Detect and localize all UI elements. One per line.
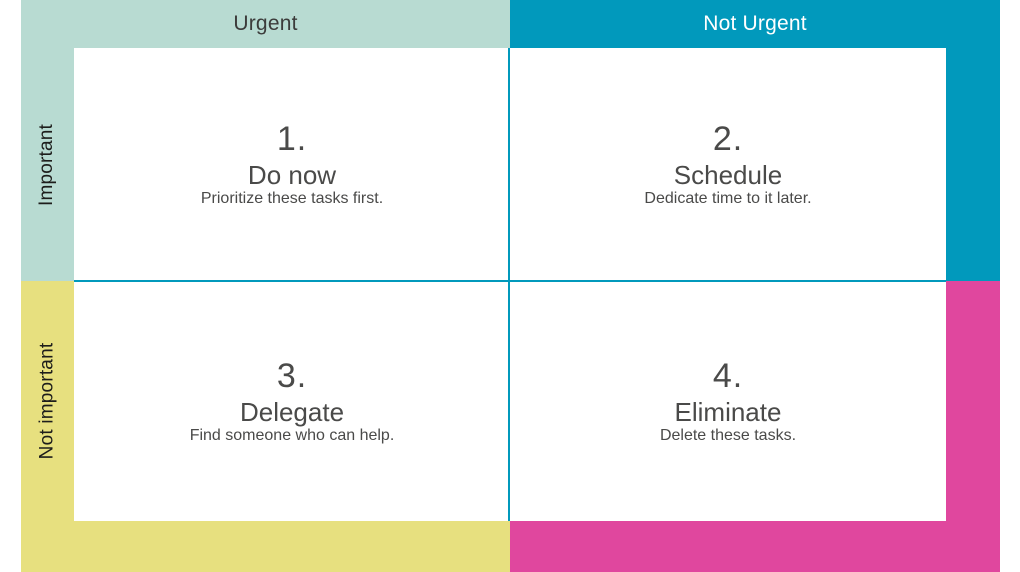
quadrant-description: Find someone who can help. bbox=[190, 427, 395, 444]
row-label-not-important: Not important bbox=[21, 281, 74, 521]
row-label-not-important-text: Not important bbox=[37, 343, 59, 460]
quadrant-description: Prioritize these tasks first. bbox=[201, 190, 383, 207]
eisenhower-matrix-diagram: Urgent Not Urgent Important Not importan… bbox=[0, 0, 1020, 572]
column-header-not-urgent-label: Not Urgent bbox=[703, 12, 807, 36]
column-header-urgent-label: Urgent bbox=[233, 12, 297, 36]
quadrant-content: 2. Schedule Dedicate time to it later. bbox=[644, 121, 811, 207]
quadrant-number: 2. bbox=[644, 121, 811, 158]
quadrant-content: 3. Delegate Find someone who can help. bbox=[190, 358, 395, 444]
quadrant-title: Eliminate bbox=[660, 398, 796, 426]
quadrant-title: Delegate bbox=[190, 398, 395, 426]
divider-vertical bbox=[508, 48, 510, 521]
quadrant-description: Delete these tasks. bbox=[660, 427, 796, 444]
row-label-important-text: Important bbox=[37, 123, 59, 205]
quadrant-do-now: 1. Do now Prioritize these tasks first. bbox=[74, 48, 510, 281]
quadrant-description: Dedicate time to it later. bbox=[644, 190, 811, 207]
quadrant-content: 4. Eliminate Delete these tasks. bbox=[660, 358, 796, 444]
quadrant-delegate: 3. Delegate Find someone who can help. bbox=[74, 281, 510, 521]
row-label-important: Important bbox=[21, 48, 74, 281]
quadrant-content: 1. Do now Prioritize these tasks first. bbox=[201, 121, 383, 207]
column-header-not-urgent: Not Urgent bbox=[510, 0, 1000, 48]
column-header-urgent: Urgent bbox=[21, 0, 510, 48]
quadrant-eliminate: 4. Eliminate Delete these tasks. bbox=[510, 281, 946, 521]
quadrant-title: Schedule bbox=[644, 161, 811, 189]
quadrant-number: 4. bbox=[660, 358, 796, 395]
quadrant-schedule: 2. Schedule Dedicate time to it later. bbox=[510, 48, 946, 281]
quadrant-number: 3. bbox=[190, 358, 395, 395]
quadrant-title: Do now bbox=[201, 161, 383, 189]
quadrant-number: 1. bbox=[201, 121, 383, 158]
divider-horizontal bbox=[74, 280, 946, 282]
